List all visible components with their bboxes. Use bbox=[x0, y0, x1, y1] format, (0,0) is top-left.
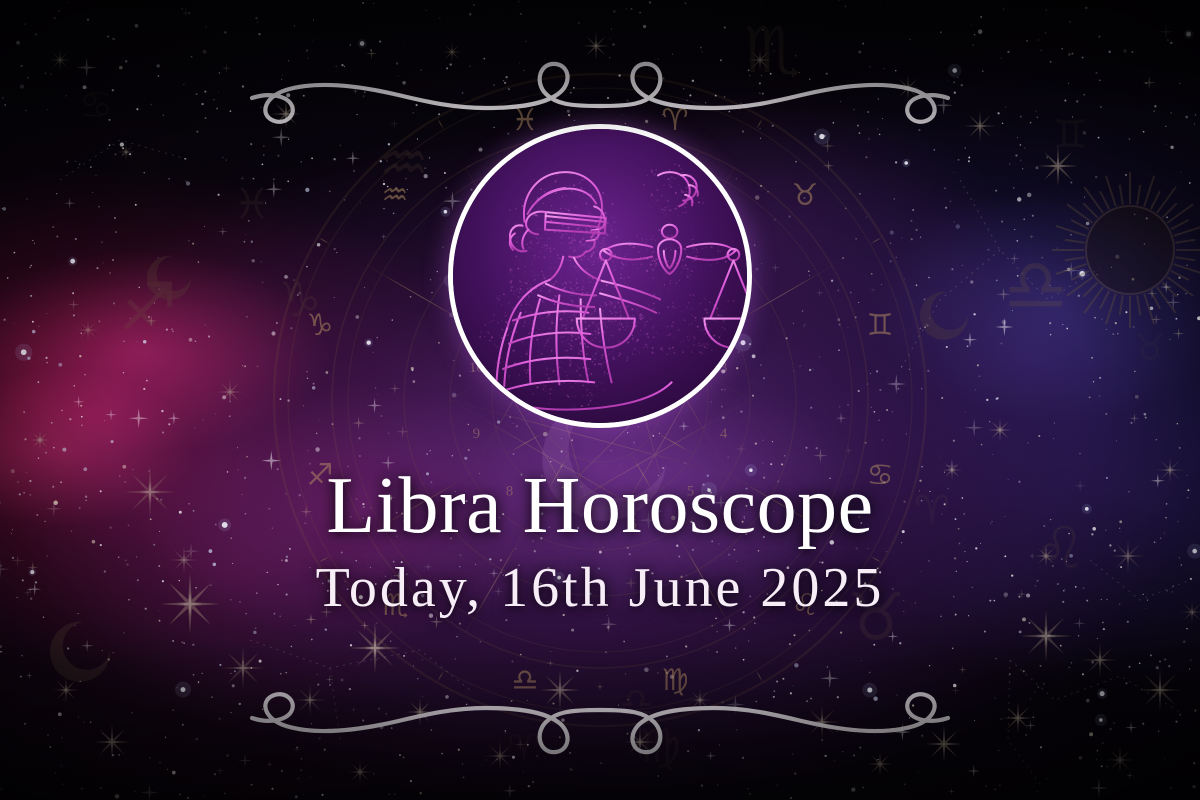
top-flourish-ornament bbox=[0, 28, 1200, 138]
horoscope-banner: ♈♉♊♋♌♍♎♏♐♑♒♓ 123456789101112 ♐♎♏♒♉♑♓♌♊♈♋… bbox=[0, 0, 1200, 800]
page-subtitle-date: Today, 16th June 2025 bbox=[0, 560, 1200, 616]
title-block: Libra Horoscope Today, 16th June 2025 bbox=[0, 466, 1200, 616]
bottom-flourish-ornament bbox=[0, 676, 1200, 786]
lady-justice-scales-illustration bbox=[453, 129, 747, 423]
page-title: Libra Horoscope bbox=[0, 466, 1200, 546]
libra-emblem-medallion bbox=[448, 124, 752, 428]
